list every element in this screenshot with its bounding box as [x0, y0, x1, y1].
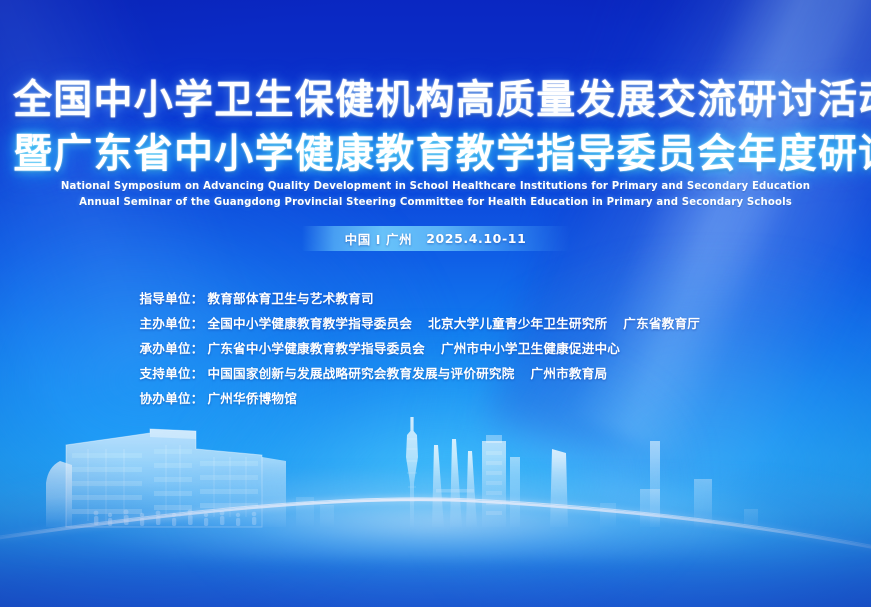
organization-value: 中国国家创新与发展战略研究会教育发展与评价研究院: [207, 363, 514, 382]
organizations-list: 指导单位： 教育部体育卫生与艺术教育司 主办单位： 全国中小学健康教育教学指导委…: [132, 288, 740, 413]
organizations-block: 指导单位： 教育部体育卫生与艺术教育司 主办单位： 全国中小学健康教育教学指导委…: [0, 288, 871, 413]
organization-row: 主办单位： 全国中小学健康教育教学指导委员会 北京大学儿童青少年卫生研究所 广东…: [140, 313, 740, 338]
subtitle-english-line2: Annual Seminar of the Guangdong Provinci…: [7, 194, 865, 210]
organization-value: 北京大学儿童青少年卫生研究所: [428, 313, 607, 332]
organization-row: 指导单位： 教育部体育卫生与艺术教育司: [140, 288, 740, 313]
organization-row: 支持单位： 中国国家创新与发展战略研究会教育发展与评价研究院 广州市教育局: [140, 363, 740, 388]
organization-values: 教育部体育卫生与艺术教育司: [207, 288, 373, 307]
main-title-line2: 暨广东省中小学健康教育教学指导委员会年度研讨活动: [13, 130, 858, 178]
badge-country: 中国: [345, 232, 371, 247]
organization-label: 指导单位：: [140, 288, 204, 307]
organization-values: 中国国家创新与发展战略研究会教育发展与评价研究院 广州市教育局: [207, 363, 607, 382]
organization-values: 广州华侨博物馆: [207, 388, 297, 407]
event-badge-text: 中国 I 广州 2025.4.10-11: [345, 229, 527, 248]
event-badge-row: 中国 I 广州 2025.4.10-11: [0, 226, 871, 251]
event-badge: 中国 I 广州 2025.4.10-11: [302, 226, 570, 251]
title-block: 全国中小学卫生保健机构高质量发展交流研讨活动 暨广东省中小学健康教育教学指导委员…: [0, 76, 871, 178]
badge-separator: I: [376, 232, 381, 247]
badge-date: 2025.4.10-11: [426, 231, 526, 246]
organization-label: 协办单位：: [140, 388, 204, 407]
organization-value: 广东省中小学健康教育教学指导委员会: [207, 338, 425, 357]
organization-value: 教育部体育卫生与艺术教育司: [207, 288, 373, 307]
organization-values: 广东省中小学健康教育教学指导委员会 广州市中小学卫生健康促进中心: [207, 338, 620, 357]
organization-values: 全国中小学健康教育教学指导委员会 北京大学儿童青少年卫生研究所 广东省教育厅: [207, 313, 700, 332]
organization-value: 广州市教育局: [531, 363, 608, 382]
organization-label: 支持单位：: [140, 363, 204, 382]
organization-label: 主办单位：: [140, 313, 204, 332]
conference-banner: 全国中小学卫生保健机构高质量发展交流研讨活动 暨广东省中小学健康教育教学指导委员…: [0, 0, 871, 607]
badge-location-group: 中国 I 广州: [345, 229, 413, 248]
organization-label: 承办单位：: [140, 338, 204, 357]
subtitle-block: National Symposium on Advancing Quality …: [0, 178, 871, 210]
main-title-line1: 全国中小学卫生保健机构高质量发展交流研讨活动: [13, 76, 858, 124]
organization-value: 广东省教育厅: [623, 313, 700, 332]
banner-content: 全国中小学卫生保健机构高质量发展交流研讨活动 暨广东省中小学健康教育教学指导委员…: [0, 0, 871, 607]
organization-value: 广州市中小学卫生健康促进中心: [441, 338, 620, 357]
organization-row: 承办单位： 广东省中小学健康教育教学指导委员会 广州市中小学卫生健康促进中心: [140, 338, 740, 363]
badge-city: 广州: [386, 232, 412, 247]
organization-value: 全国中小学健康教育教学指导委员会: [207, 313, 412, 332]
organization-row: 协办单位： 广州华侨博物馆: [140, 388, 740, 413]
organization-value: 广州华侨博物馆: [207, 388, 297, 407]
subtitle-english-line1: National Symposium on Advancing Quality …: [7, 178, 865, 194]
